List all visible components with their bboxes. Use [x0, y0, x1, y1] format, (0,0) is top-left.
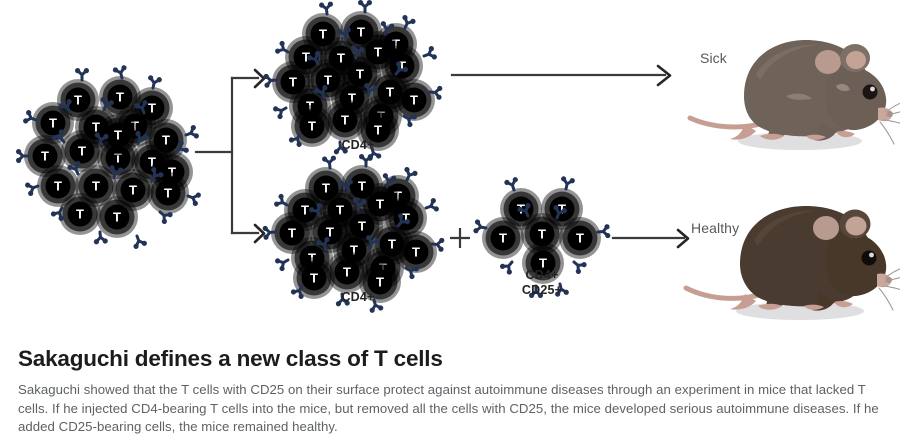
svg-text:T: T — [78, 144, 86, 159]
svg-text:T: T — [113, 210, 121, 225]
caption-body: Sakaguchi showed that the T cells with C… — [18, 381, 886, 437]
svg-text:T: T — [412, 245, 420, 260]
svg-text:T: T — [410, 93, 418, 108]
svg-text:T: T — [499, 231, 507, 246]
mouse-label-sick: Sick — [700, 50, 727, 66]
svg-text:T: T — [74, 93, 82, 108]
svg-text:T: T — [310, 271, 318, 286]
svg-text:T: T — [116, 90, 124, 105]
svg-text:T: T — [374, 45, 382, 60]
svg-text:T: T — [92, 179, 100, 194]
svg-text:T: T — [41, 149, 49, 164]
arrow-to-healthy-mouse — [613, 230, 688, 247]
svg-text:T: T — [376, 275, 384, 290]
cluster-mixed-t-cells: T T T T T T T T T T T T T T T T T T T — [16, 65, 202, 250]
cluster-label-cd4-cd25-line1: CD4+ — [492, 268, 592, 283]
cluster-label-cd4-cd25-line2: CD25+ — [492, 283, 592, 298]
svg-text:T: T — [114, 128, 122, 143]
svg-text:T: T — [376, 197, 384, 212]
svg-text:T: T — [319, 27, 327, 42]
svg-text:T: T — [54, 179, 62, 194]
svg-text:T: T — [343, 265, 351, 280]
svg-text:T: T — [288, 226, 296, 241]
caption-title: Sakaguchi defines a new class of T cells — [18, 346, 886, 372]
svg-text:T: T — [576, 231, 584, 246]
svg-text:T: T — [76, 207, 84, 222]
caption-block: Sakaguchi defines a new class of T cells… — [18, 346, 886, 437]
svg-text:T: T — [129, 183, 137, 198]
svg-text:T: T — [538, 227, 546, 242]
cluster-label-cd4-cd25: CD4+ CD25+ — [492, 268, 592, 298]
cluster-label-cd4-top: CD4+ — [308, 138, 408, 153]
mouse-label-healthy: Healthy — [691, 220, 739, 236]
cluster-label-cd4-bottom: CD4+ — [308, 290, 408, 305]
arrow-to-sick-mouse — [452, 66, 670, 85]
arrow-split-bracket — [196, 70, 264, 242]
svg-text:T: T — [308, 119, 316, 134]
figure-canvas: .halo{opacity:.42} .ring{opacity:.62} .b… — [0, 0, 900, 448]
plus-sign — [450, 228, 470, 248]
svg-text:T: T — [374, 123, 382, 138]
svg-text:T: T — [164, 186, 172, 201]
svg-text:T: T — [341, 113, 349, 128]
svg-text:T: T — [289, 75, 297, 90]
svg-text:T: T — [49, 116, 57, 131]
